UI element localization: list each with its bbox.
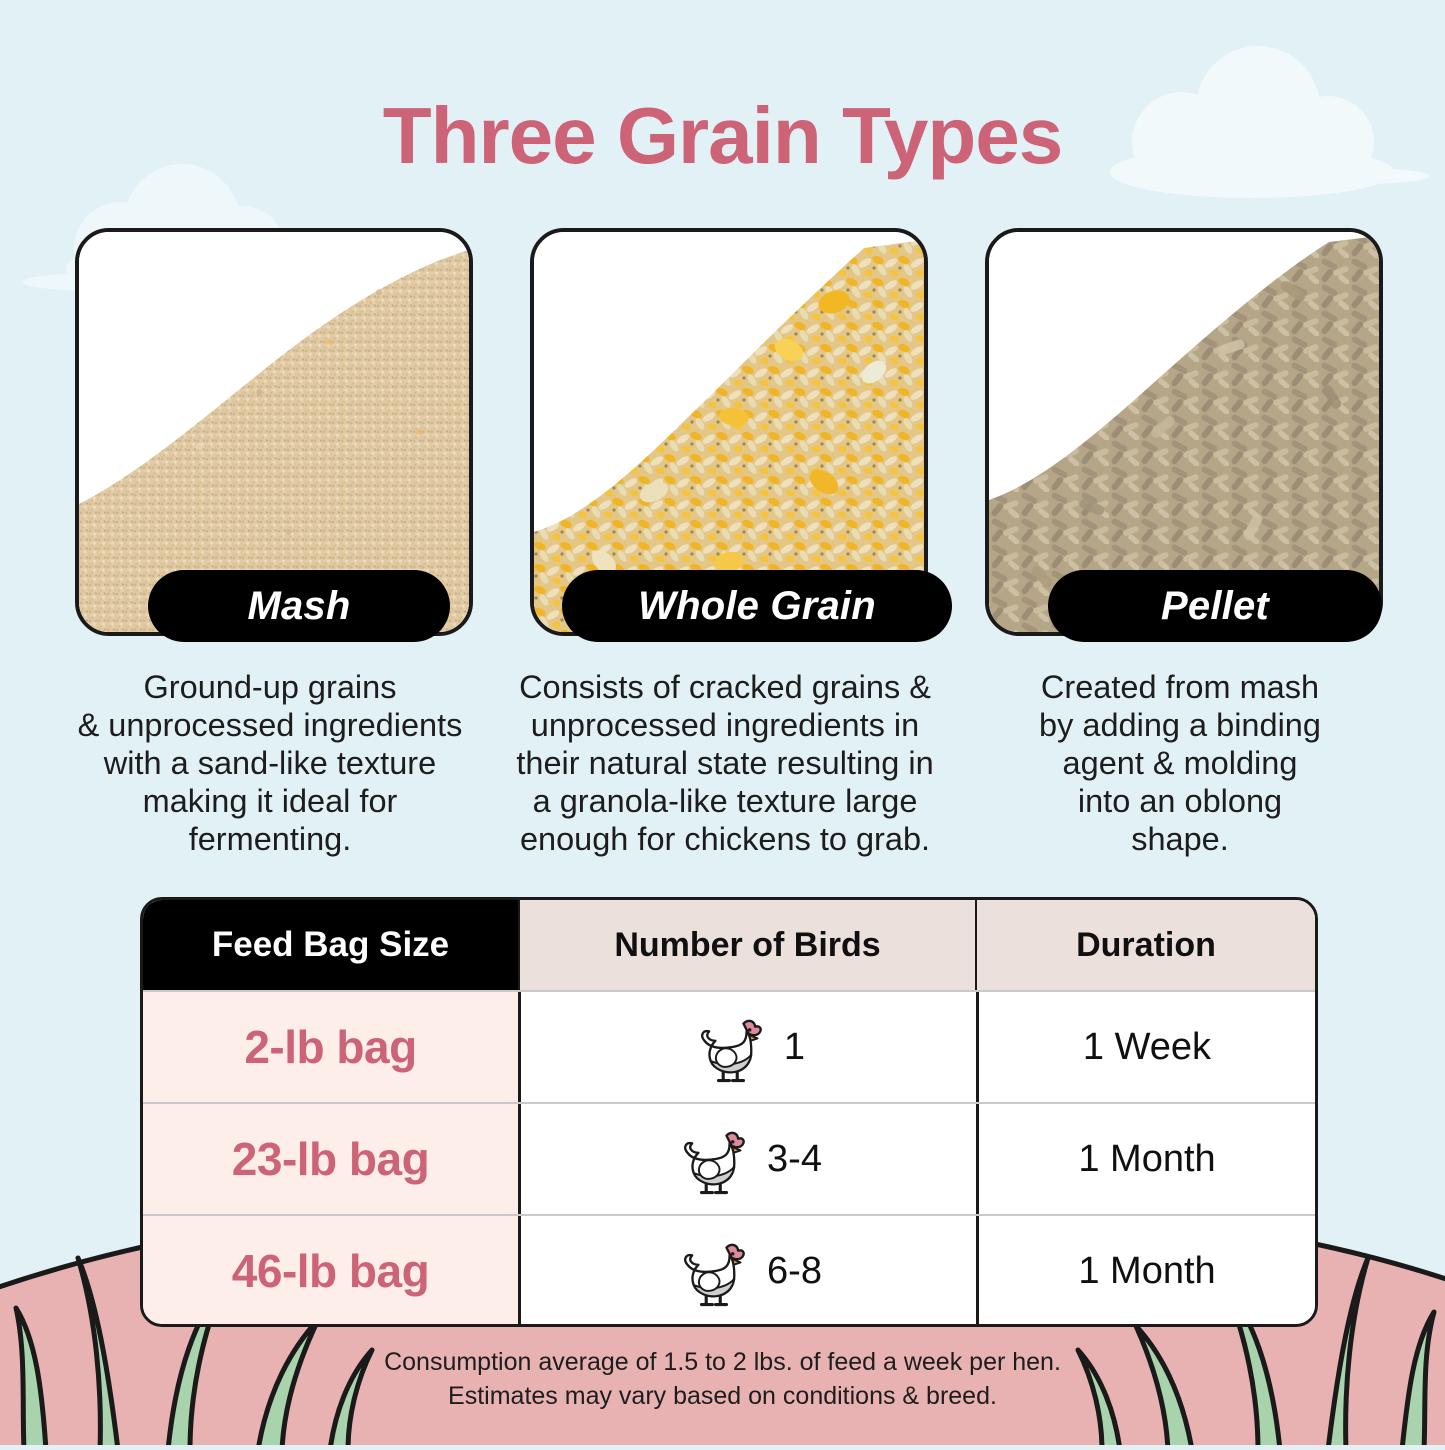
hen-icon [675,1120,753,1198]
cell-bag-size: 2-lb bag [143,992,518,1102]
table-row: 2-lb bag 1 1 Week [143,990,1315,1102]
grain-description-whole-grain: Consists of cracked grains & unprocessed… [492,668,958,858]
grain-description-mash: Ground-up grains & unprocessed ingredien… [60,668,480,858]
bird-count: 6-8 [767,1250,822,1293]
feed-bag-table: Feed Bag Size Number of Birds Duration 2… [140,897,1318,1327]
hen-icon [675,1232,753,1310]
hen-icon [692,1008,770,1086]
table-header-feed-bag-size: Feed Bag Size [143,900,518,990]
cell-number-of-birds: 1 [518,992,976,1102]
grain-label-mash: Mash [148,570,450,642]
table-row: 23-lb bag 3-4 1 Month [143,1102,1315,1214]
cell-duration: 1 Week [976,992,1315,1102]
cell-number-of-birds: 6-8 [518,1216,976,1326]
table-header-number-of-birds: Number of Birds [518,900,975,990]
table-header-row: Feed Bag Size Number of Birds Duration [143,900,1315,990]
cell-duration: 1 Month [976,1104,1315,1214]
bird-count: 3-4 [767,1138,822,1181]
table-row: 46-lb bag 6-8 1 Month [143,1214,1315,1326]
grain-label-pellet: Pellet [1048,570,1382,642]
grain-description-pellet: Created from mash by adding a binding ag… [1000,668,1360,858]
grain-cards-row [0,228,1445,628]
page-title: Three Grain Types [0,96,1445,176]
grain-label-whole-grain: Whole Grain [562,570,952,642]
cell-bag-size: 23-lb bag [143,1104,518,1214]
cell-bag-size: 46-lb bag [143,1216,518,1326]
infographic-canvas: Three Grain Types [0,0,1445,1445]
bird-count: 1 [784,1026,805,1069]
cell-duration: 1 Month [976,1216,1315,1326]
footnote-text: Consumption average of 1.5 to 2 lbs. of … [0,1346,1445,1414]
table-header-duration: Duration [975,900,1315,990]
cell-number-of-birds: 3-4 [518,1104,976,1214]
